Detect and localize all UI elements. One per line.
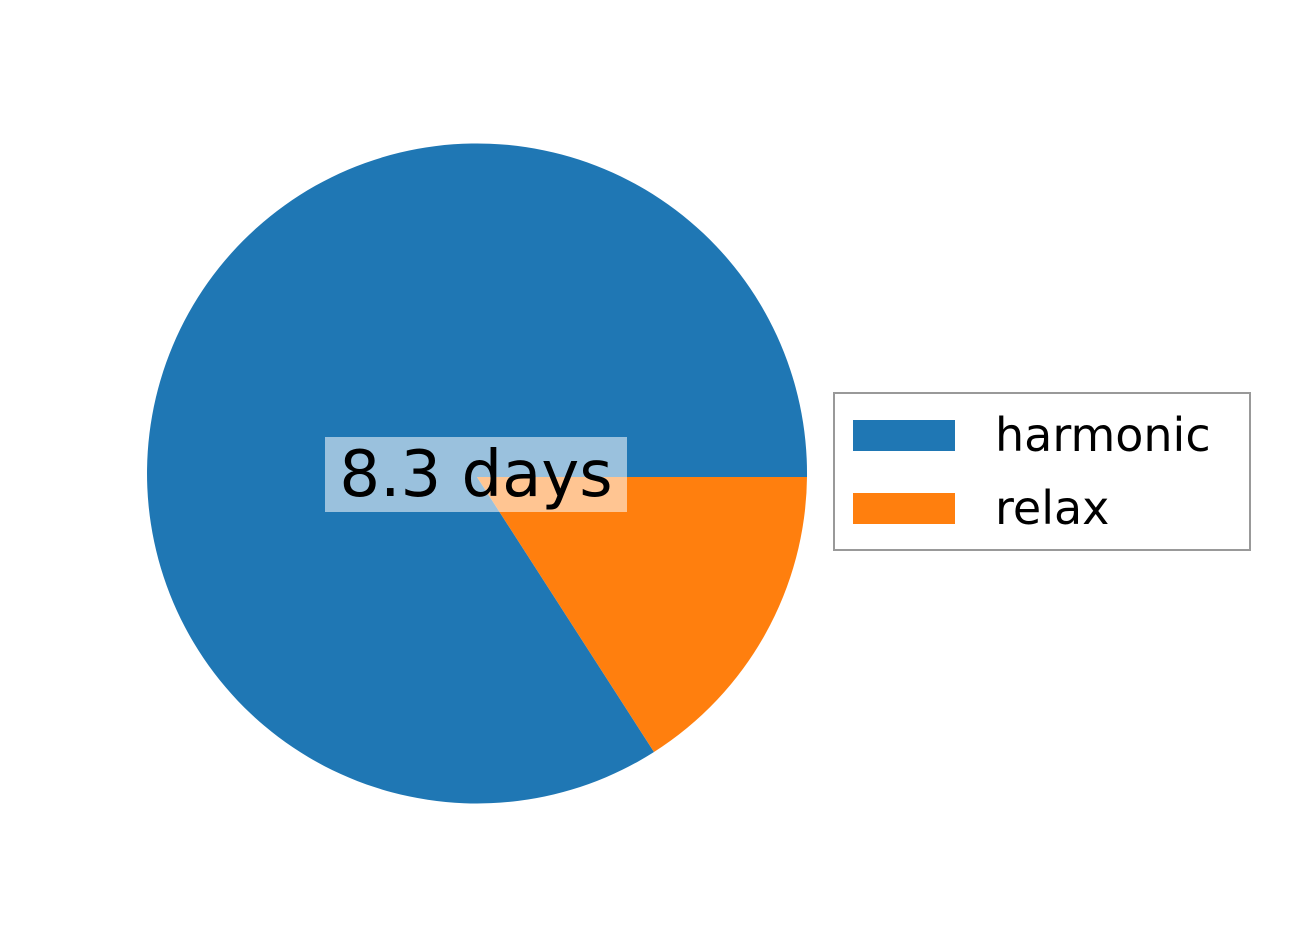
legend-label-harmonic: harmonic <box>995 412 1211 458</box>
pie-chart-figure: 8.3 days harmonic relax <box>0 0 1307 951</box>
pie-center-value-label: 8.3 days <box>325 437 627 512</box>
legend-label-relax: relax <box>995 485 1109 531</box>
chart-legend: harmonic relax <box>833 392 1251 551</box>
legend-swatch-relax <box>853 493 955 524</box>
legend-swatch-harmonic <box>853 420 955 451</box>
pie-center-value-text: 8.3 days <box>339 443 612 507</box>
legend-item-relax[interactable]: relax <box>853 488 1109 528</box>
legend-item-harmonic[interactable]: harmonic <box>853 415 1211 455</box>
